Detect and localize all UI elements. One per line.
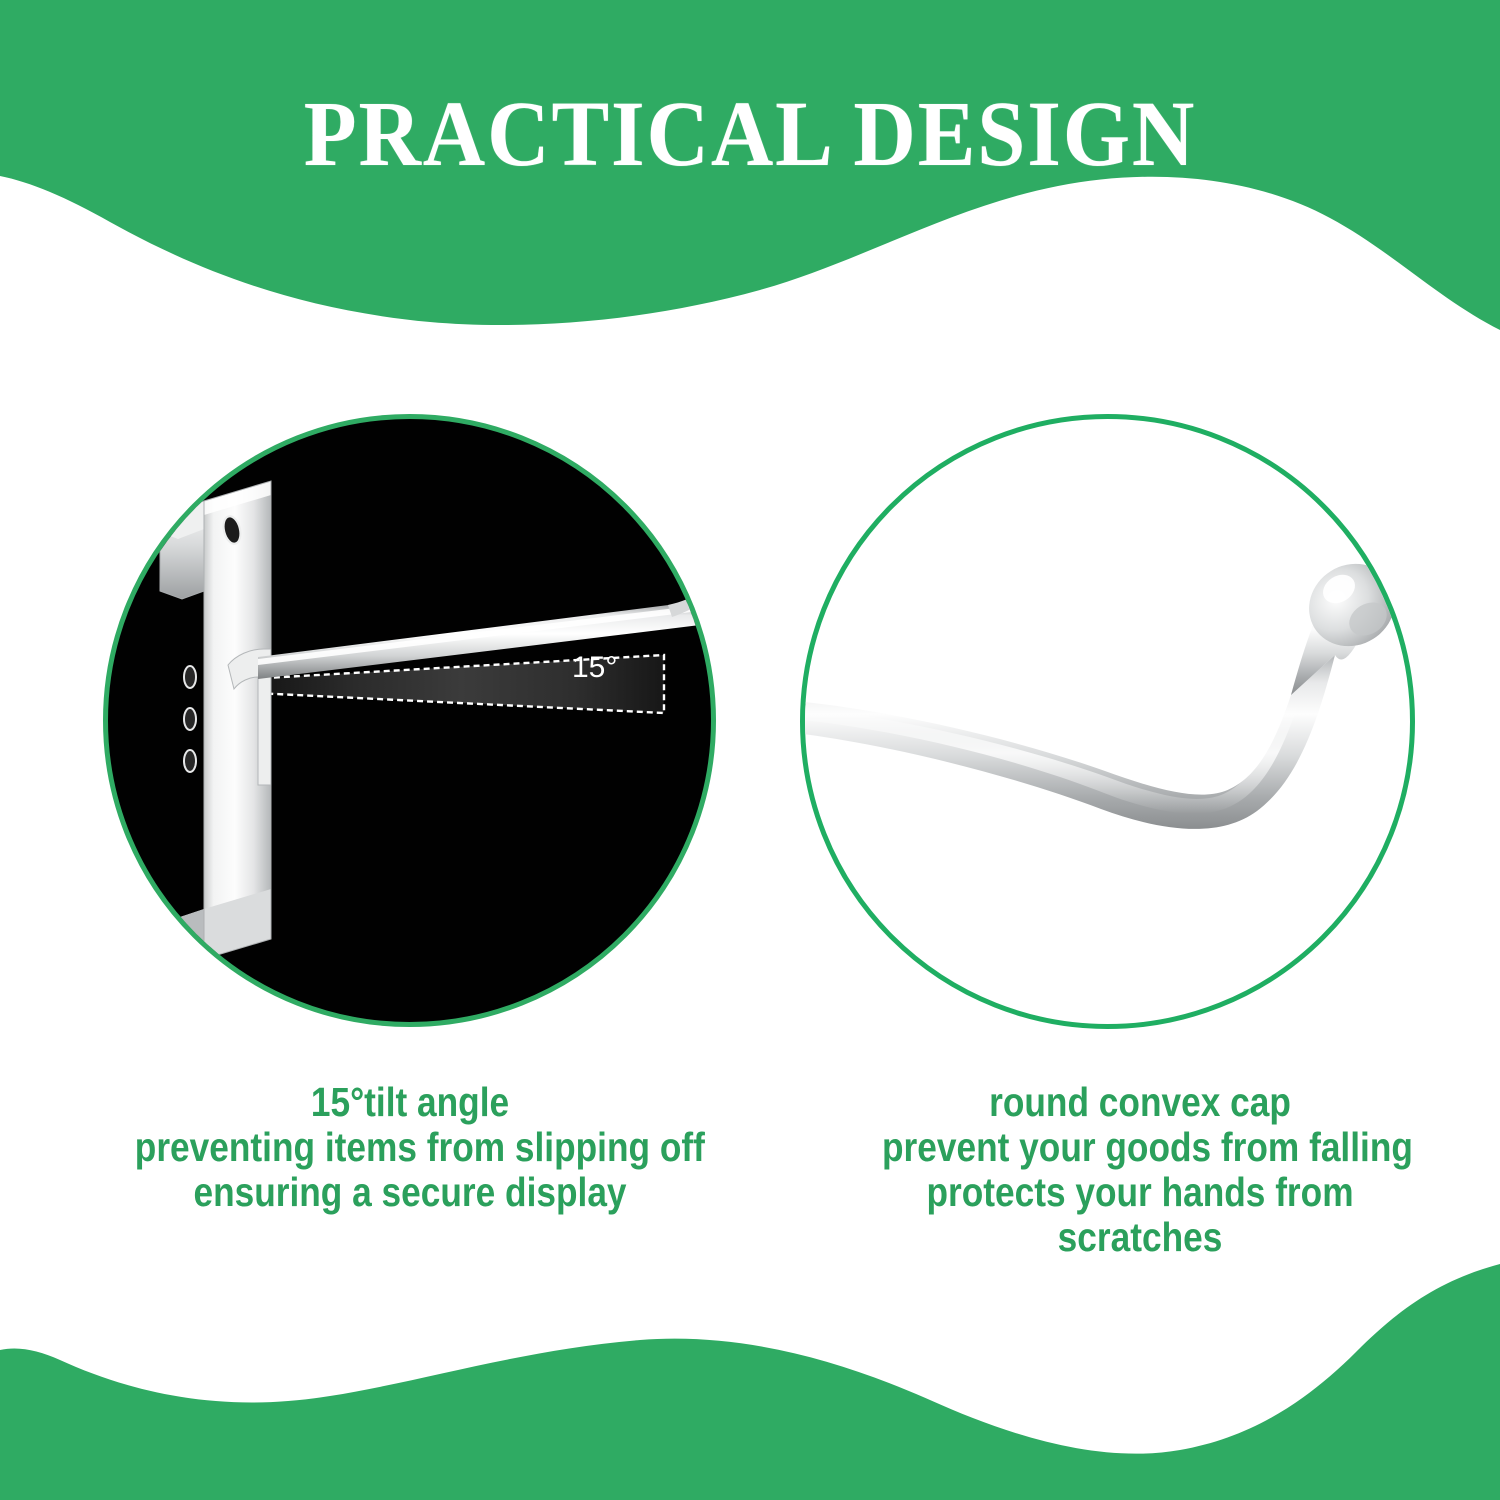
- caption-line: prevent your goods from falling: [882, 1125, 1398, 1170]
- infographic-canvas: PRACTICAL DESIGN: [0, 0, 1500, 1500]
- caption-line: preventing items from slipping off: [135, 1125, 685, 1170]
- page-title: PRACTICAL DESIGN: [53, 88, 1448, 181]
- hook-side-view-illustration: [108, 419, 711, 1022]
- hook-tip-illustration: [805, 419, 1410, 1024]
- bracket-slot-group: [184, 666, 196, 772]
- angle-label: 15°: [572, 653, 617, 683]
- caption-line: round convex cap: [882, 1080, 1398, 1125]
- bottom-wave-banner: [0, 1200, 1500, 1500]
- caption-line: 15°tilt angle: [135, 1080, 685, 1125]
- caption-tilt-angle: 15°tilt angle preventing items from slip…: [135, 1080, 685, 1215]
- hook-tip-closeup-photo: [800, 414, 1415, 1029]
- bracket-top-lip: [160, 501, 204, 599]
- hook-shaft: [805, 655, 1335, 829]
- gridwall-hook-side-view-photo: [103, 414, 716, 1027]
